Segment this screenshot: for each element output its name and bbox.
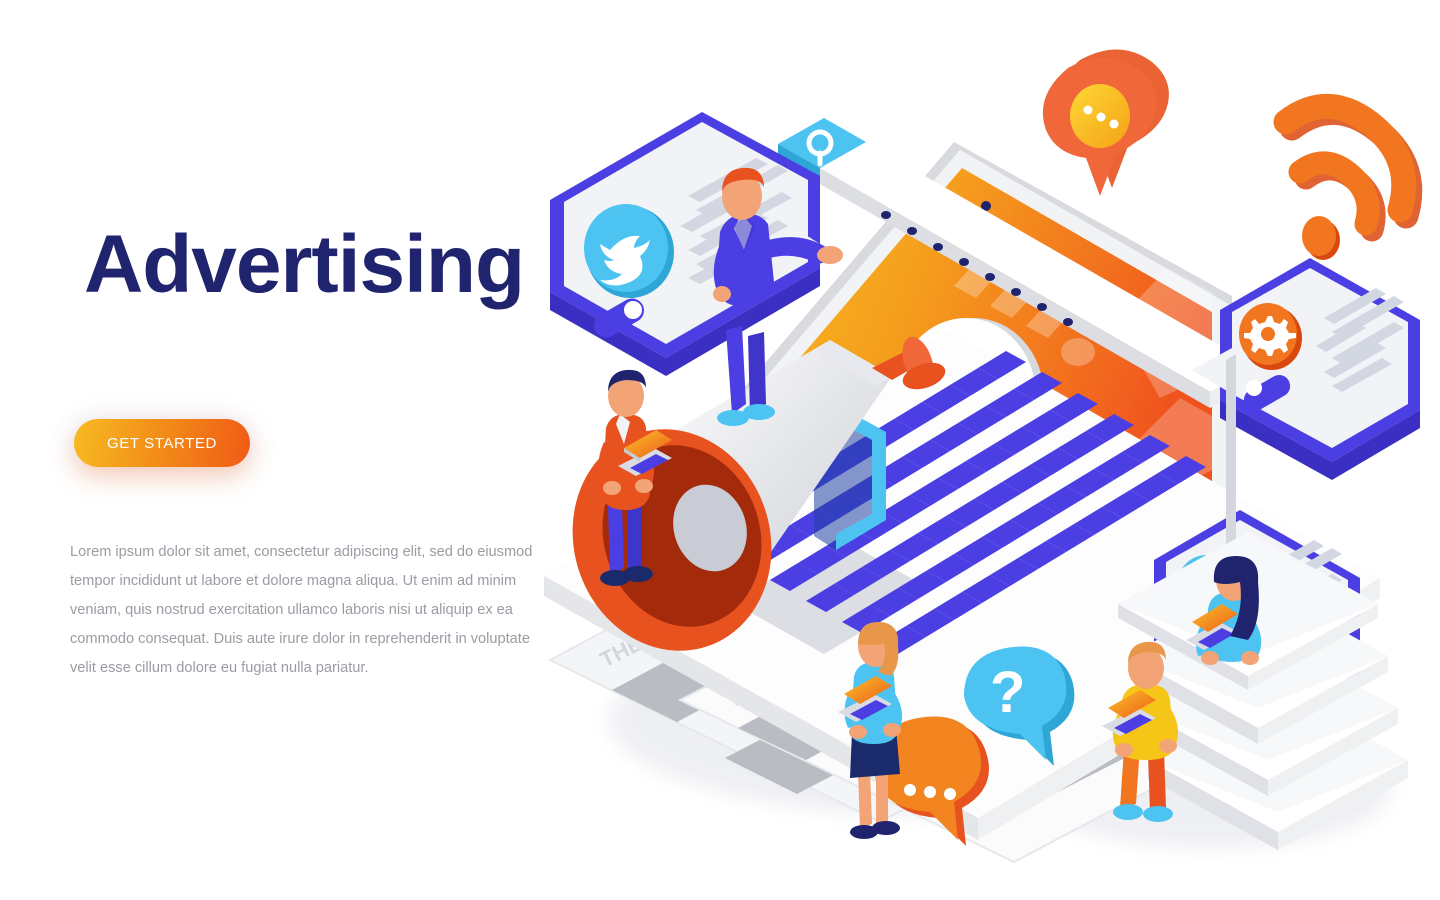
- hero-description: Lorem ipsum dolor sit amet, consectetur …: [70, 538, 540, 683]
- hero-text-column: Advertising GET STARTED Lorem ipsum dolo…: [84, 0, 544, 900]
- landing-page: Advertising GET STARTED Lorem ipsum dolo…: [0, 0, 1440, 900]
- advertising-illustration: THE NEWS THE NE: [520, 0, 1440, 900]
- get-started-button[interactable]: GET STARTED: [74, 419, 250, 467]
- chat-pin-icon: [1043, 49, 1169, 196]
- question-mark-glyph: ?: [990, 660, 1025, 725]
- page-title: Advertising: [84, 222, 524, 308]
- wifi-broadcast-icon: [1286, 106, 1410, 260]
